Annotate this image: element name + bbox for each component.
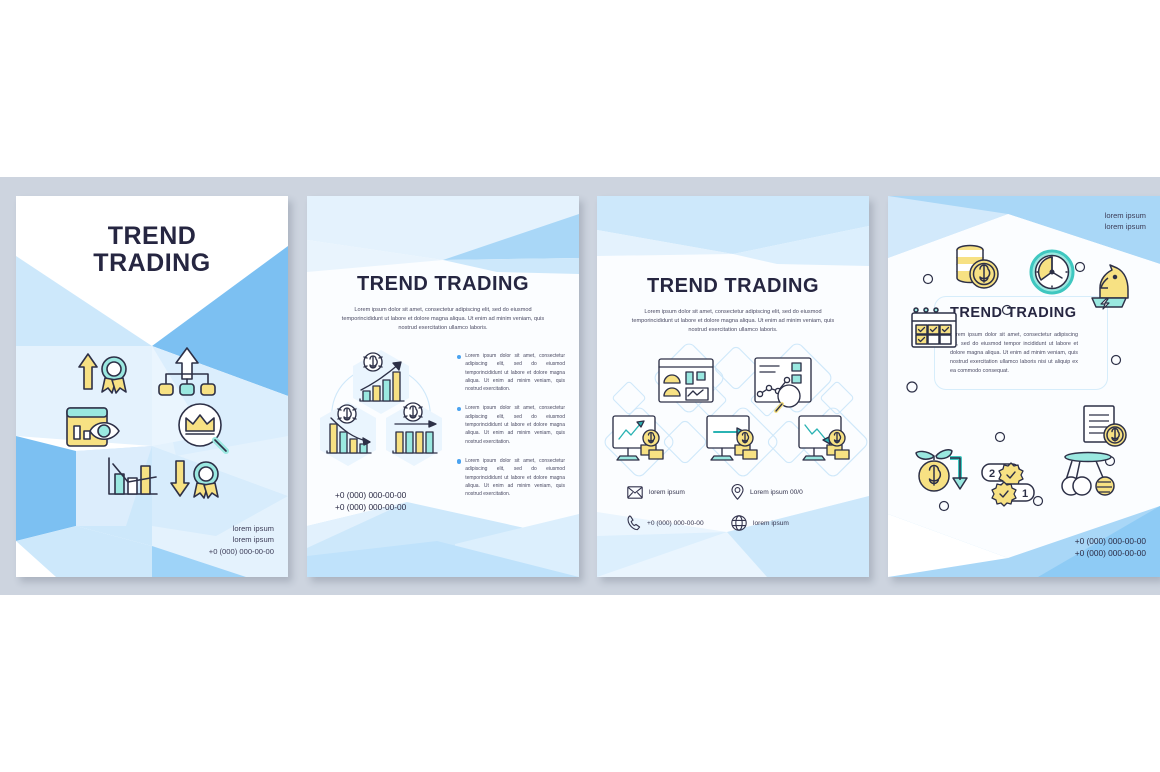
bullet-text: Lorem ipsum dolor sit amet, consectetur …: [465, 352, 565, 393]
contact-website-label: lorem ipsum: [753, 520, 789, 527]
balance-swing-icon: [1060, 450, 1118, 502]
bar-chart-trendline-icon: [104, 454, 162, 500]
clock-icon: [1028, 248, 1076, 296]
down-arrow-award-icon: [166, 454, 228, 502]
panel2-phone-numbers: +0 (000) 000-00-00 +0 (000) 000-00-00: [335, 489, 406, 513]
growth-arrow-hierarchy-icon: [156, 346, 218, 398]
brochure-preview-canvas: TREND TRADING: [0, 0, 1160, 772]
svg-text:2: 2: [989, 468, 995, 480]
list-item[interactable]: Lorem ipsum dolor sit amet, consectetur …: [457, 352, 565, 393]
chess-knight-strategy-icon: [1086, 264, 1132, 316]
money-plant-down-arrow-icon: [912, 444, 968, 494]
globe-icon: [731, 515, 747, 531]
brochure-panel-bullets[interactable]: TREND TRADING Lorem ipsum dolor sit amet…: [307, 196, 579, 577]
coin-stack-dollar-icon: [954, 244, 1002, 292]
panel4-icon-cluster: 2 1: [888, 196, 1160, 577]
panel3-contact-block: lorem ipsum Lorem ipsum 00/0 +0 (00: [627, 484, 845, 531]
contact-email-label: lorem ipsum: [649, 489, 685, 496]
envelope-icon: [627, 486, 643, 499]
calendar-check-icon: [910, 306, 958, 350]
panel4-phone-numbers: +0 (000) 000-00-00 +0 (000) 000-00-00: [1075, 535, 1146, 559]
document-dollar-icon: [1082, 404, 1130, 448]
brochure-panel-contacts[interactable]: TREND TRADING Lorem ipsum dolor sit amet…: [597, 196, 869, 577]
brochure-panel-back[interactable]: lorem ipsum lorem ipsum TREND TRADING Lo…: [888, 196, 1160, 577]
list-item[interactable]: Lorem ipsum dolor sit amet, consectetur …: [457, 457, 565, 498]
list-item[interactable]: Lorem ipsum dolor sit amet, consectetur …: [457, 404, 565, 445]
panel4-decor-dots: [888, 196, 1160, 577]
cover-icon-cluster: [16, 196, 288, 577]
crown-magnifier-icon: [174, 401, 232, 457]
bullet-dot-icon: [457, 459, 461, 463]
trend-cycle-diagram: [315, 344, 447, 474]
diamond-grid-icons: [603, 344, 861, 484]
phone-handset-icon: [627, 515, 641, 531]
svg-text:1: 1: [1022, 488, 1028, 500]
dashboard-eye-icon: [64, 404, 126, 452]
contact-website[interactable]: lorem ipsum: [731, 515, 845, 531]
up-arrow-award-icon: [74, 348, 136, 396]
brochure-panel-cover[interactable]: TREND TRADING: [16, 196, 288, 577]
location-pin-icon: [731, 484, 744, 500]
bullet-dot-icon: [457, 355, 461, 359]
contact-phone[interactable]: +0 (000) 000-00-00: [627, 515, 731, 531]
panel2-bullet-list: Lorem ipsum dolor sit amet, consectetur …: [457, 352, 565, 509]
contact-email[interactable]: lorem ipsum: [627, 484, 731, 500]
contact-address[interactable]: Lorem ipsum 00/0: [731, 484, 845, 500]
bullet-text: Lorem ipsum dolor sit amet, consectetur …: [465, 404, 565, 445]
contact-phone-label: +0 (000) 000-00-00: [647, 520, 704, 527]
contact-address-label: Lorem ipsum 00/0: [750, 489, 803, 496]
bullet-dot-icon: [457, 407, 461, 411]
step-path-badges-icon: 2 1: [980, 458, 1038, 506]
bullet-text: Lorem ipsum dolor sit amet, consectetur …: [465, 457, 565, 498]
cover-footer-contact: lorem ipsum lorem ipsum +0 (000) 000-00-…: [209, 523, 274, 557]
